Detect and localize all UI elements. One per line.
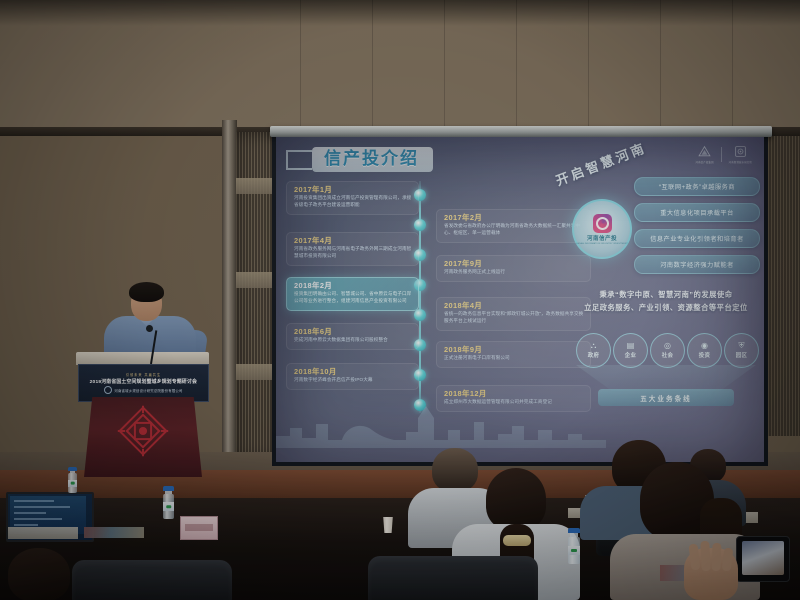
timeline-card[interactable]: 2017年4月 河南省政务服务网与河南省电子政务外网三期成立河南智慧城市投资有限… [286, 232, 419, 266]
timeline-card[interactable]: 2018年6月 完成河南中原云大数据集团有限公司股权整合 [286, 323, 419, 350]
timeline-body: 省统一的政务信息平台实现和“郑政钉城公开放”，政务数据共享交换服务平台上线试运行 [444, 311, 584, 324]
value-pill[interactable]: 重大信息化项目承载平台 [634, 203, 760, 222]
seal-name: 河南信产投 [587, 234, 617, 242]
slide-logos: 河南信产投集团 河南智慧城市研究院 [696, 145, 752, 164]
segment-label: 企业 [625, 351, 636, 359]
seal-subtitle: HENAN INFORMATION INDUSTRY INVESTMENT [576, 243, 628, 245]
projector-screen-roller [270, 126, 772, 137]
segment-circle-government[interactable]: ⛬ 政府 [576, 333, 611, 368]
timeline-date: 2018年10月 [294, 368, 412, 375]
value-pill[interactable]: “互联网+政务”卓越服务商 [634, 177, 760, 196]
timeline-date: 2018年4月 [444, 302, 584, 309]
hair-tie [503, 535, 531, 546]
timeline-date: 2018年9月 [444, 346, 584, 353]
podium-event-sign: 引领未来 共赢共生 2019河南省国土空间规划暨城乡规划专题研讨会 河南省城乡规… [78, 364, 209, 402]
segment-circle-society[interactable]: ◎ 社会 [650, 333, 685, 368]
timeline-card[interactable]: 2017年1月 河南投资集团出资成立河南信产投资管理有限公司，承接省级电子政务平… [286, 181, 419, 215]
value-pill[interactable]: 河南数字经济强力赋能者 [634, 255, 760, 274]
segment-label: 政府 [588, 351, 599, 359]
segment-circle-investment[interactable]: ◉ 投资 [687, 333, 722, 368]
corporate-logo-triangle-icon [698, 145, 711, 158]
office-chair[interactable] [368, 556, 538, 600]
logo-caption: 河南信产投集团 [696, 160, 714, 164]
corporate-logo-square-icon [734, 145, 747, 158]
office-chair[interactable] [72, 560, 232, 600]
title-bracket-icon [286, 150, 312, 170]
park-icon: ⛨ [739, 342, 745, 350]
mission-line-1: 秉承“数字中原、智慧河南”的发展使命 [576, 289, 756, 302]
timeline-date: 2017年2月 [444, 214, 584, 221]
company-seal-logo: 河南信产投 HENAN INFORMATION INDUSTRY INVESTM… [572, 199, 632, 259]
mission-line-2: 立足政务服务、产业引领、资源整合等平台定位 [576, 302, 756, 315]
speaker-hair [129, 282, 164, 302]
investment-icon: ◉ [701, 342, 708, 350]
timeline-date: 2018年6月 [294, 328, 412, 335]
podium-tagline: 引领未来 共赢共生 [126, 372, 161, 377]
document-paper[interactable] [84, 527, 144, 538]
timeline-card-highlighted[interactable]: 2018年2月 投资集团明确由公司、智慧城公司、省中原云与电子口岸公司等业务进行… [286, 277, 419, 311]
timeline-date: 2017年9月 [444, 260, 584, 267]
business-lines-bar: 五大业务条线 [598, 389, 734, 406]
timeline-card[interactable]: 2017年9月 河南政务服务网正式上线运行 [436, 255, 591, 282]
timeline-body: 河南省政务服务网与河南省电子政务外网三期成立河南智慧城市投资有限公司 [294, 246, 412, 259]
timeline-body: 河南投资集团出资成立河南信产投资管理有限公司，承接省级电子政务平台建设运营职能 [294, 195, 412, 208]
conference-photo: 信产投介绍 河南信产投集团 河南智慧城市研究院 [0, 0, 800, 600]
presentation-slide: 信产投介绍 河南信产投集团 河南智慧城市研究院 [276, 137, 764, 462]
ceiling-shadow [0, 0, 800, 26]
segment-label: 园区 [736, 351, 747, 359]
timeline-card[interactable]: 2017年2月 省发改委与省政府办公厅明确为河南省政务大数据统一汇聚共享中心、枢… [436, 209, 591, 243]
enterprise-icon: ▤ [627, 342, 635, 350]
timeline-body: 河南数字经济峰会开启信产投IPO大幕 [294, 377, 412, 384]
segment-label: 投资 [699, 351, 710, 359]
podium-event-title: 2019河南省国土空间规划暨城乡规划专题研讨会 [90, 378, 197, 385]
timeline-body: 正式注册河南电子口岸有限公司 [444, 355, 584, 362]
segment-circle-park[interactable]: ⛨ 园区 [724, 333, 759, 368]
timeline-body: 完成河南中原云大数据集团有限公司股权整合 [294, 337, 412, 344]
water-bottle[interactable] [568, 528, 580, 564]
timeline-body: 河南政务服务网正式上线运行 [444, 269, 584, 276]
value-pill[interactable]: 信息产业专业化引领者和培育者 [634, 229, 760, 248]
seal-spiral-icon [593, 214, 612, 233]
timeline-card[interactable]: 2018年10月 河南数字经济峰会开启信产投IPO大幕 [286, 363, 419, 390]
logo-caption: 河南智慧城市研究院 [729, 160, 752, 164]
timeline-body: 省发改委与省政府办公厅明确为河南省政务大数据统一汇聚共享中心、枢纽区、单一运营载… [444, 223, 584, 236]
podium-emblem-icon [116, 404, 170, 458]
podium-organizer-row: 河南省城乡规划设计研究总院股份有限公司 [104, 386, 182, 394]
timeline-date: 2017年1月 [294, 186, 412, 193]
city-skyline-decoration [276, 396, 606, 448]
tissue-box[interactable] [180, 516, 218, 540]
wall-metal-trim [222, 120, 237, 465]
slide-title: 信产投介绍 [312, 147, 433, 172]
mission-statement: 秉承“数字中原、智慧河南”的发展使命 立足政务服务、产业引领、资源整合等平台定位 [576, 289, 756, 315]
water-bottle[interactable] [68, 467, 77, 493]
segment-label: 社会 [662, 351, 673, 359]
timeline-date: 2017年4月 [294, 237, 412, 244]
organizer-seal-icon [104, 386, 112, 394]
podium-organizer: 河南省城乡规划设计研究总院股份有限公司 [114, 388, 182, 393]
projector-screen: 信产投介绍 河南信产投集团 河南智慧城市研究院 [276, 137, 764, 462]
logo-divider [721, 147, 722, 162]
timeline-card[interactable]: 2018年4月 省统一的政务信息平台实现和“郑政钉城公开放”，政务数据共享交换服… [436, 297, 591, 331]
document-paper[interactable] [8, 527, 78, 539]
timeline-date: 2018年2月 [294, 282, 412, 289]
society-icon: ◎ [664, 342, 671, 350]
water-bottle[interactable] [163, 486, 174, 519]
microphone-head [146, 325, 153, 332]
phone-screen [742, 541, 784, 575]
government-icon: ⛬ [591, 342, 597, 350]
segment-circle-enterprise[interactable]: ▤ 企业 [613, 333, 648, 368]
timeline-body: 投资集团明确由公司、智慧城公司、省中原云与电子口岸公司等业务进行整合，组建河南信… [294, 291, 412, 304]
timeline-card[interactable]: 2018年9月 正式注册河南电子口岸有限公司 [436, 341, 591, 368]
